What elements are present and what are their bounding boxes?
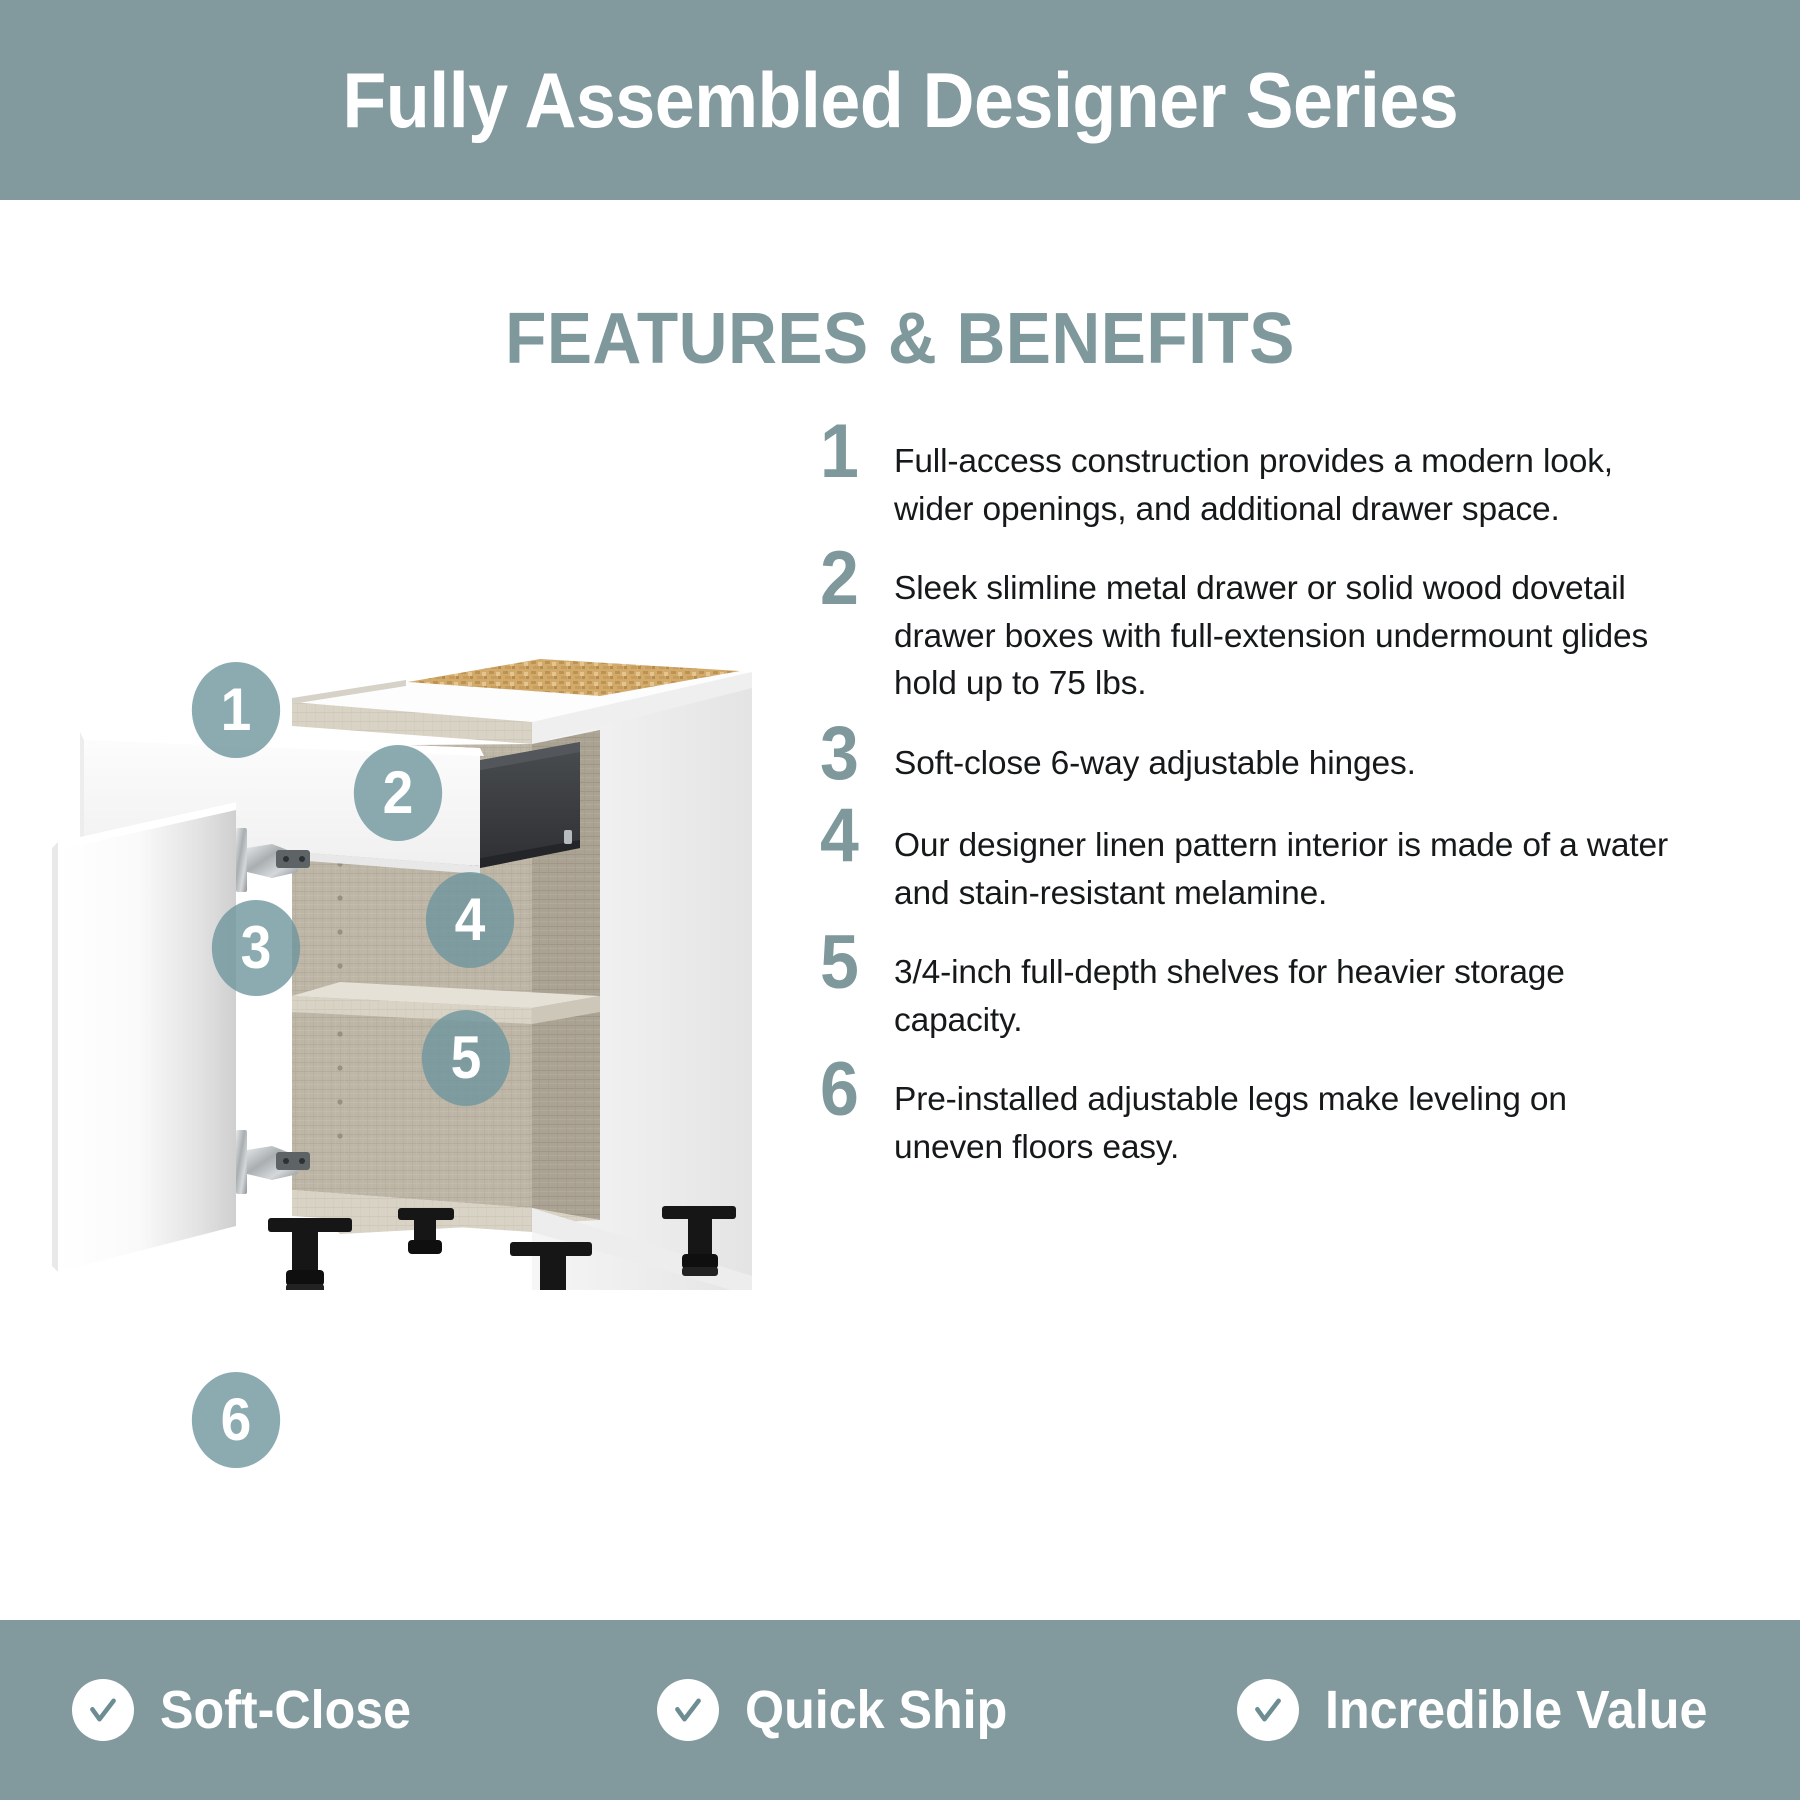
footer-badge-incredible-value: Incredible Value (1221, 1679, 1800, 1741)
feature-text: Our designer linen pattern interior is m… (894, 806, 1680, 917)
feature-item: 3 Soft-close 6-way adjustable hinges. (820, 724, 1680, 790)
feature-number: 5 (820, 927, 888, 999)
footer-badge-soft-close: Soft-Close (0, 1679, 635, 1741)
feature-number: 3 (820, 718, 888, 790)
infographic-page: Fully Assembled Designer Series FEATURES… (0, 0, 1800, 1800)
feature-number: 1 (820, 416, 888, 488)
callout-badge-6: 6 (192, 1372, 280, 1468)
header-bar: Fully Assembled Designer Series (0, 0, 1800, 200)
main-content: FEATURES & BENEFITS (0, 200, 1800, 1620)
section-title: FEATURES & BENEFITS (54, 298, 1746, 380)
callout-badge-3: 3 (212, 900, 300, 996)
feature-item: 6 Pre-installed adjustable legs make lev… (820, 1060, 1680, 1171)
feature-text: Sleek slimline metal drawer or solid woo… (894, 549, 1680, 708)
check-circle-icon (72, 1679, 134, 1741)
metal-drawer-box (470, 742, 580, 870)
feature-text: 3/4-inch full-depth shelves for heavier … (894, 933, 1680, 1044)
check-circle-icon (1237, 1679, 1299, 1741)
callout-badge-5: 5 (422, 1010, 510, 1106)
adjustable-leg (398, 1208, 454, 1254)
check-circle-icon (657, 1679, 719, 1741)
feature-item: 5 3/4-inch full-depth shelves for heavie… (820, 933, 1680, 1044)
feature-text: Full-access construction provides a mode… (894, 422, 1680, 533)
features-list: 1 Full-access construction provides a mo… (820, 422, 1680, 1187)
callout-badge-2: 2 (354, 745, 442, 841)
callout-badge-1: 1 (192, 662, 280, 758)
feature-text: Soft-close 6-way adjustable hinges. (894, 724, 1680, 788)
feature-number: 4 (820, 800, 888, 872)
feature-text: Pre-installed adjustable legs make level… (894, 1060, 1680, 1171)
feature-item: 2 Sleek slimline metal drawer or solid w… (820, 549, 1680, 708)
feature-item: 1 Full-access construction provides a mo… (820, 422, 1680, 533)
footer-bar: Soft-Close Quick Ship Incredible Value (0, 1620, 1800, 1800)
feature-item: 4 Our designer linen pattern interior is… (820, 806, 1680, 917)
cabinet-illustration: 1 2 3 4 5 6 (40, 430, 800, 1290)
footer-label: Soft-Close (160, 1679, 411, 1741)
callout-badge-4: 4 (426, 872, 514, 968)
feature-number: 6 (820, 1054, 888, 1126)
page-title: Fully Assembled Designer Series (342, 55, 1458, 146)
footer-label: Incredible Value (1325, 1679, 1707, 1741)
cabinet-door (52, 802, 236, 1272)
footer-label: Quick Ship (745, 1679, 1007, 1741)
adjustable-leg (268, 1218, 352, 1290)
footer-badge-quick-ship: Quick Ship (635, 1679, 1220, 1741)
feature-number: 2 (820, 543, 888, 615)
